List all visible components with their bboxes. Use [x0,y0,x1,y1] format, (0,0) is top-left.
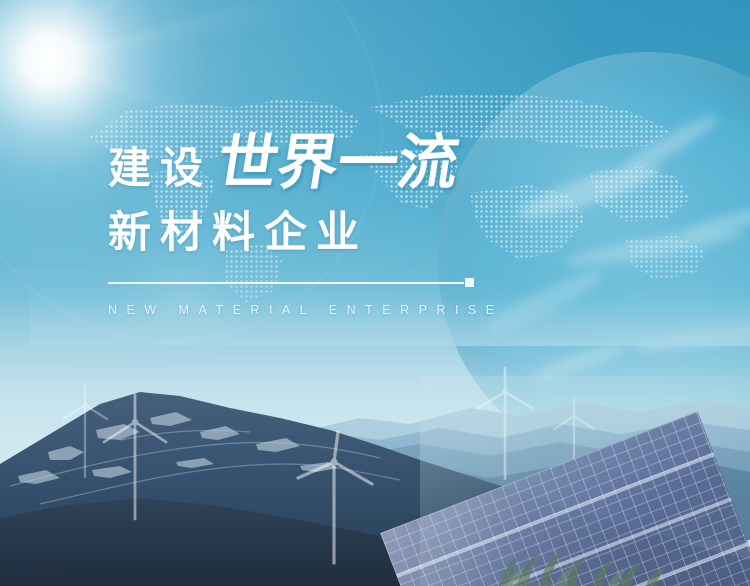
wind-turbine-3 [282,428,378,564]
headline-emphasis: 世界一流 [213,133,463,193]
divider-line [108,282,464,284]
headline-lead: 建设 [108,148,212,191]
wind-turbine-2 [92,392,178,520]
wind-turbine-4 [468,366,542,480]
subtitle-english: NEW MATERIAL ENTERPRISE [108,303,528,317]
hero-banner: 建设 世界一流 新材料企业 NEW MATERIAL ENTERPRISE [0,0,750,586]
divider-end-cap [465,278,474,287]
divider [108,278,474,287]
headline-row: 建设 世界一流 [108,133,528,199]
foliage [488,522,678,586]
hero-text-block: 建设 世界一流 新材料企业 NEW MATERIAL ENTERPRISE [108,133,528,317]
headline-subline: 新材料企业 [108,211,528,256]
